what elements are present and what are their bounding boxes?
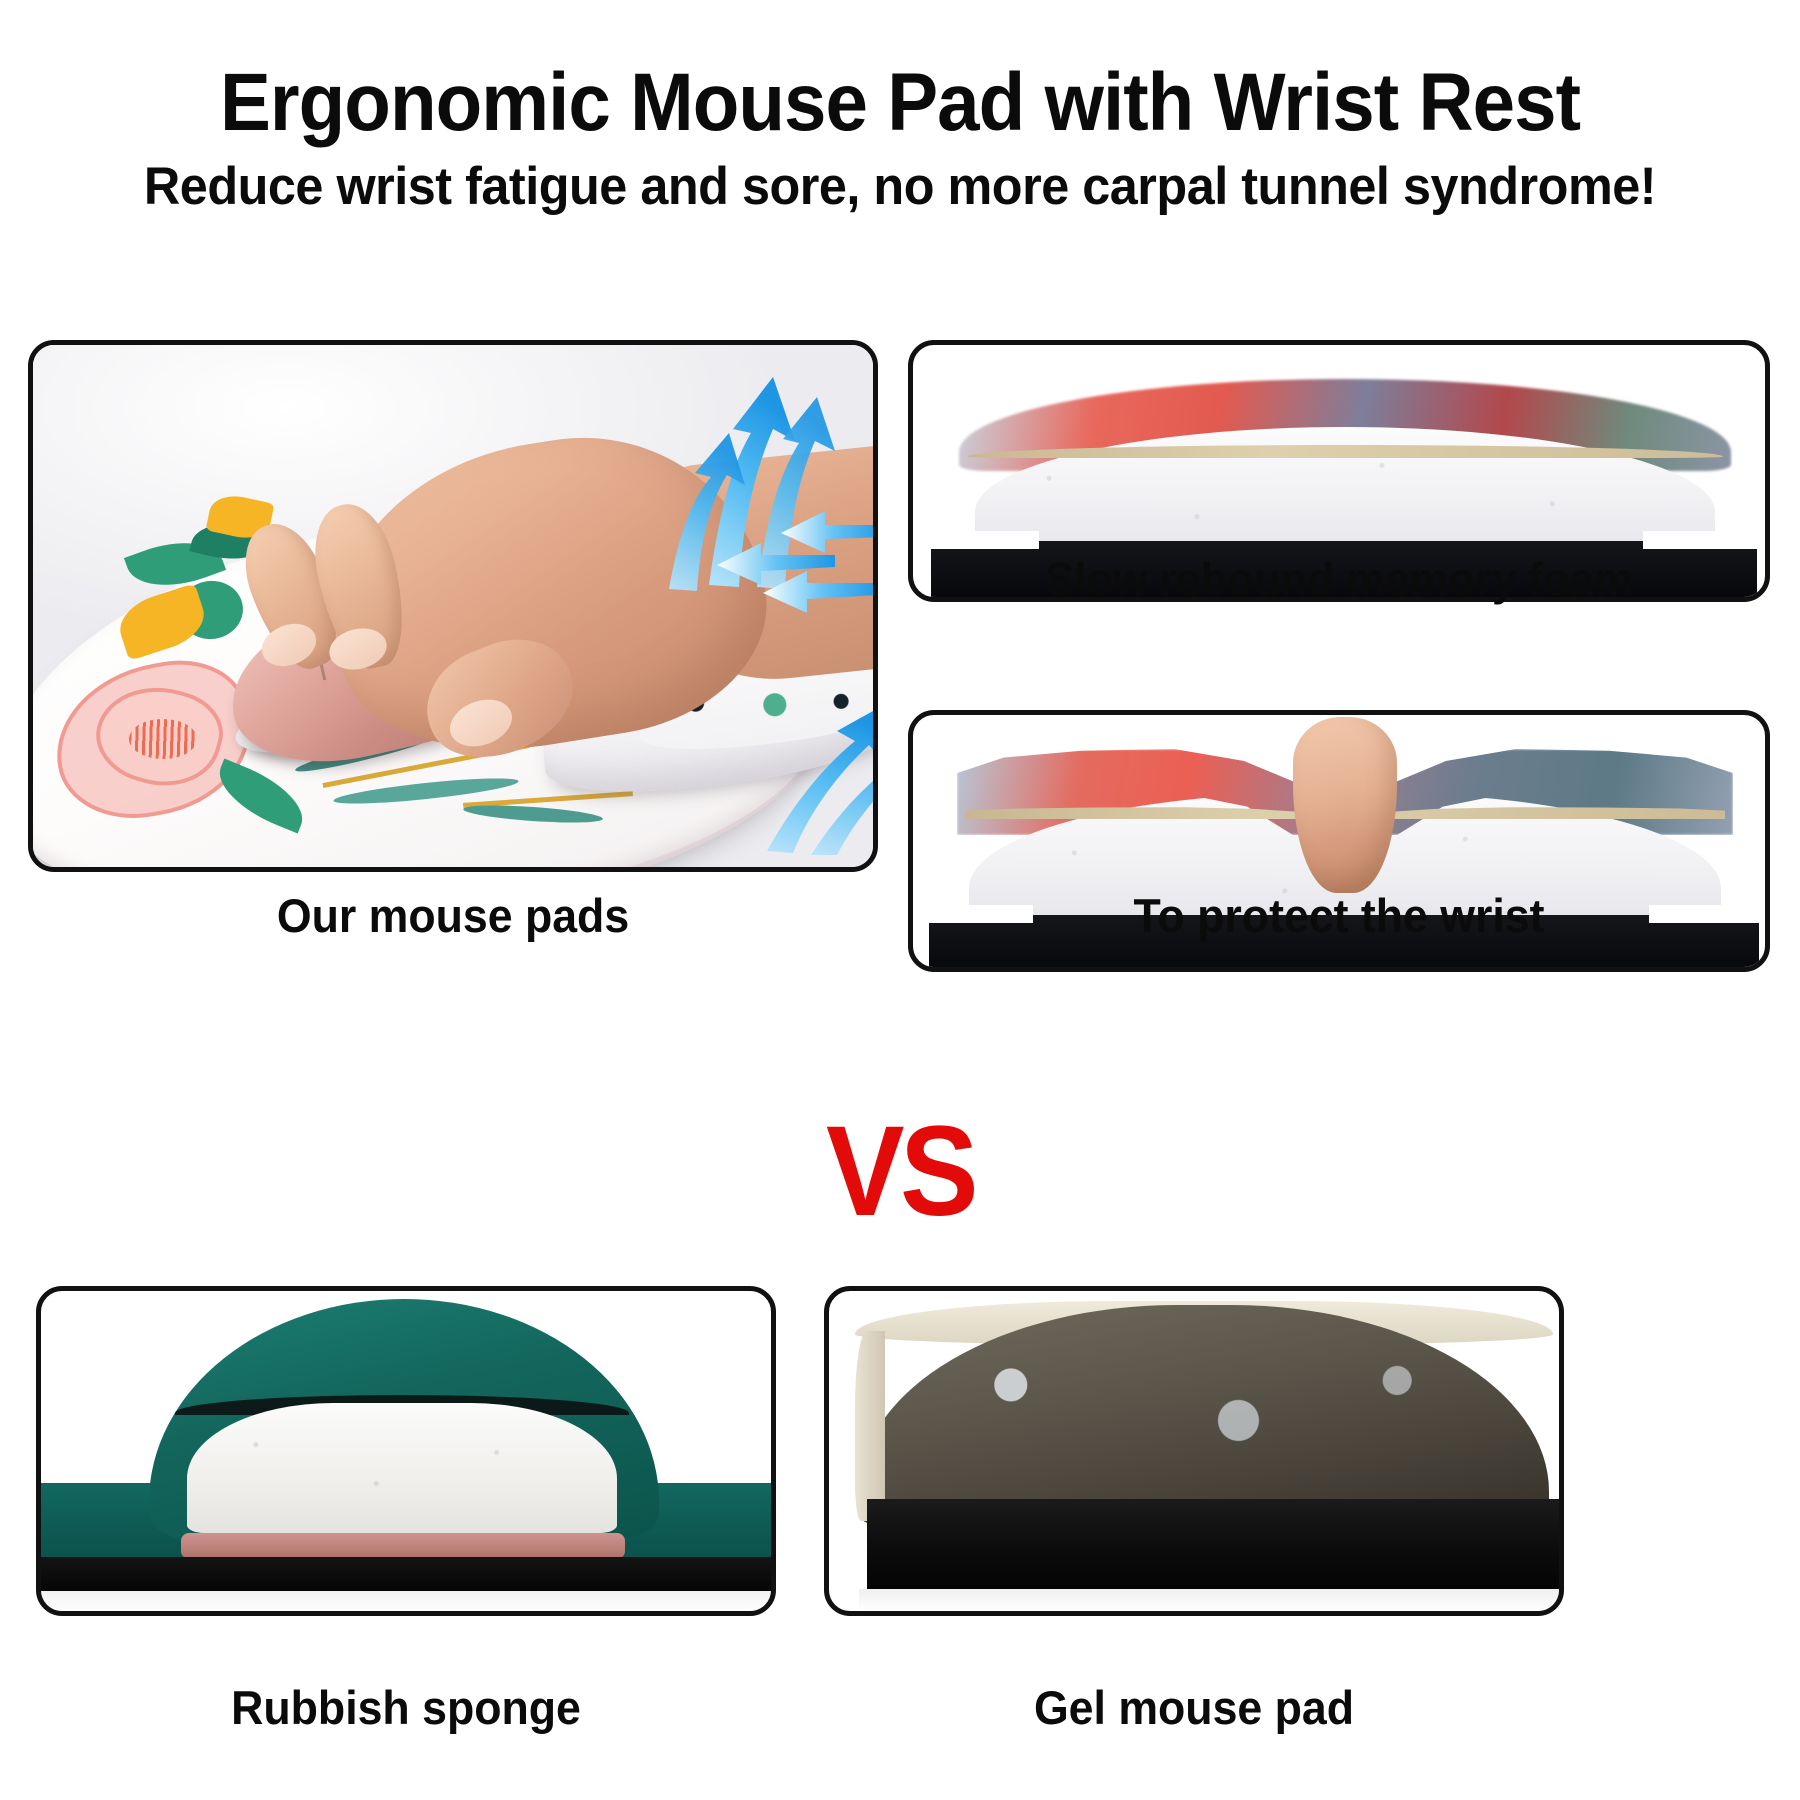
panel-our-mouse-pads	[28, 340, 878, 872]
airflow-arrow-diagonal-icon	[759, 645, 878, 855]
drop-shadow	[859, 1589, 1564, 1611]
caption-gel-mouse-pad: Gel mouse pad	[843, 1684, 1546, 1731]
caption-protect-wrist: To protect the wrist	[930, 892, 1749, 939]
rubber-base	[867, 1499, 1564, 1591]
caption-memory-foam: Slow rebound memory foam	[930, 556, 1749, 602]
rubber-base-notch	[931, 531, 1039, 549]
floral-peony-center-icon	[129, 719, 197, 759]
pressing-finger	[1293, 717, 1397, 893]
infographic-root: Ergonomic Mouse Pad with Wrist Rest Redu…	[0, 0, 1800, 1800]
panel-rubbish-sponge	[36, 1286, 776, 1616]
coarse-sponge-core	[187, 1403, 617, 1533]
caption-rubbish-sponge: Rubbish sponge	[55, 1684, 758, 1731]
gel-outer-skin-side	[855, 1331, 885, 1521]
page-title: Ergonomic Mouse Pad with Wrist Rest	[63, 62, 1737, 144]
glue-layer	[181, 1533, 625, 1559]
page-subtitle: Reduce wrist fatigue and sore, no more c…	[45, 160, 1755, 213]
rubber-base	[37, 1557, 776, 1593]
vs-label: VS	[72, 1108, 1728, 1236]
panel-gel-mouse-pad	[824, 1286, 1564, 1616]
rubber-base-notch	[1643, 531, 1757, 549]
airflow-arrow-left-icon	[629, 503, 878, 623]
drop-shadow	[37, 1591, 776, 1615]
caption-our-mouse-pads: Our mouse pads	[49, 892, 857, 939]
